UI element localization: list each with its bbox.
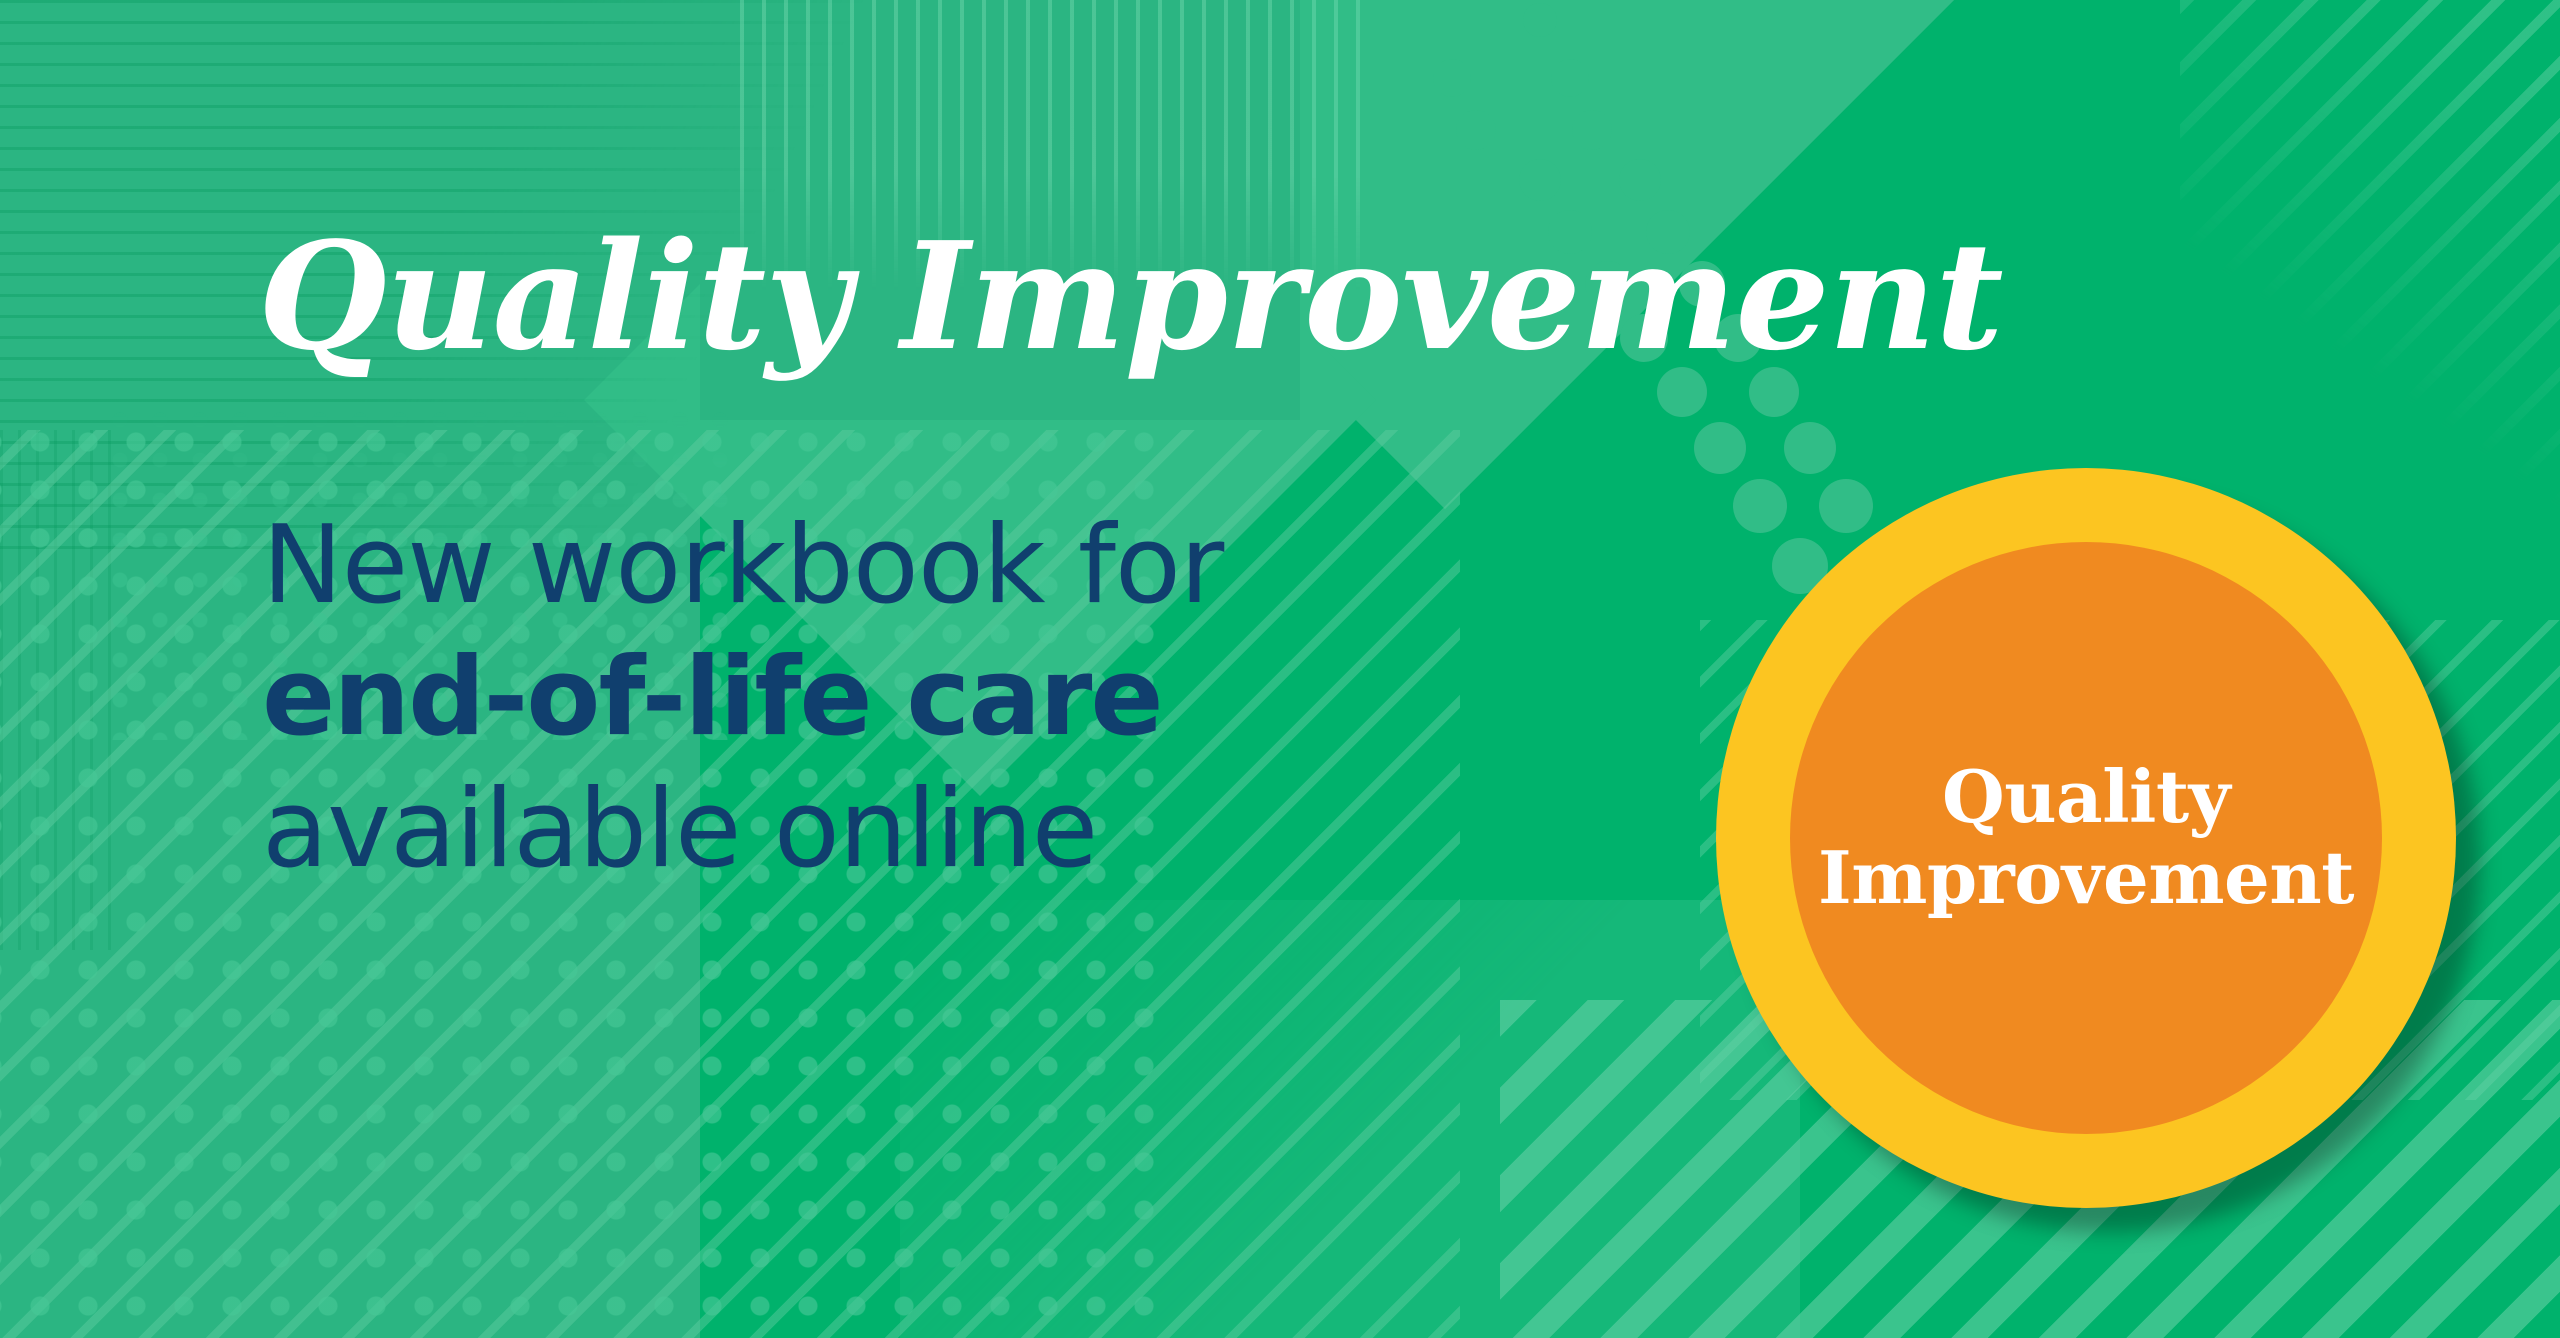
banner-subheading: New workbook for end-of-life care availa… <box>262 500 1223 895</box>
subheading-line-3: available online <box>262 764 1223 896</box>
banner-headline: Quality Improvement <box>258 222 2003 370</box>
quality-improvement-badge: Quality Improvement <box>1716 468 2486 1238</box>
badge-label: Quality Improvement <box>1818 757 2354 918</box>
promo-banner: Quality Improvement New workbook for end… <box>0 0 2560 1338</box>
badge-label-line-1: Quality <box>1818 757 2354 838</box>
banner-content: Quality Improvement New workbook for end… <box>0 0 2560 1338</box>
badge-label-line-2: Improvement <box>1818 838 2354 919</box>
subheading-line-1: New workbook for <box>262 500 1223 632</box>
subheading-line-2: end-of-life care <box>262 632 1223 764</box>
badge-inner-circle: Quality Improvement <box>1790 542 2382 1134</box>
